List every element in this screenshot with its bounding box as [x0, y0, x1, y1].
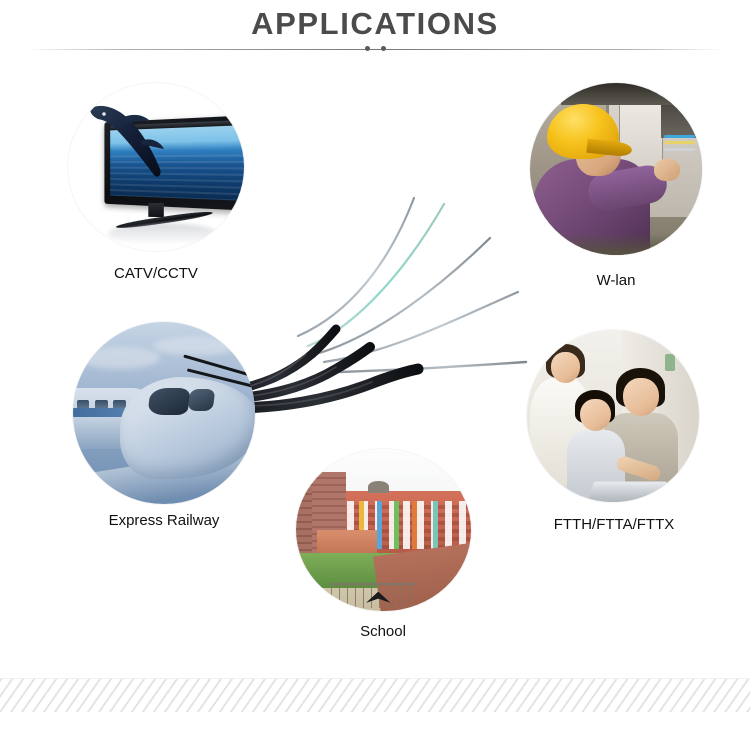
- laptop-icon: [588, 482, 673, 502]
- tv-reflection: [108, 223, 218, 245]
- fence: [331, 583, 415, 608]
- bullet-train-art: [73, 322, 255, 504]
- worker-hand: [654, 159, 680, 181]
- floor-shadow: [530, 234, 702, 255]
- application-image-school: [296, 449, 471, 611]
- 3d-tv-dolphin-art: [68, 83, 244, 251]
- building-dome: [368, 481, 389, 492]
- application-label-ftth: FTTH/FTTA/FTTX: [516, 516, 712, 534]
- facade-color-stripe: [433, 501, 438, 550]
- ftth-drop-cable-image: [228, 186, 528, 416]
- diagonal-stripe-band: [0, 679, 750, 712]
- application-image-railway: [73, 322, 255, 504]
- application-label-catv: CATV/CCTV: [58, 265, 254, 283]
- technician-art: [530, 83, 702, 255]
- cable-svg: [228, 186, 528, 416]
- green-accent: [665, 354, 675, 371]
- application-label-school: School: [313, 623, 453, 641]
- family-laptop-art: [527, 330, 699, 502]
- application-image-ftth: [527, 330, 699, 502]
- page-header: APPLICATIONS: [0, 0, 750, 62]
- divider-line: [25, 49, 725, 50]
- application-page: APPLICATIONS: [0, 0, 750, 729]
- blue-tone-overlay: [73, 322, 255, 504]
- title-divider: [25, 44, 725, 56]
- facade-color-stripe: [412, 501, 417, 550]
- ceiling-shadow: [561, 83, 702, 105]
- tv-stand-neck: [148, 203, 164, 217]
- wire-blue: [664, 135, 695, 138]
- application-label-wlan: W-lan: [520, 272, 712, 290]
- facade-color-stripe: [394, 501, 399, 550]
- application-label-railway: Express Railway: [65, 512, 263, 530]
- school-campus-art: [296, 449, 471, 611]
- application-image-catv: [68, 83, 244, 251]
- divider-dot-left-icon: [365, 46, 370, 51]
- application-image-wlan: [530, 83, 702, 255]
- facade-color-stripe: [377, 501, 382, 550]
- wire-grey: [664, 148, 695, 151]
- divider-dot-right-icon: [381, 46, 386, 51]
- page-title: APPLICATIONS: [0, 6, 750, 42]
- dolphin-icon: [84, 93, 188, 185]
- apartment-tower: [296, 488, 312, 559]
